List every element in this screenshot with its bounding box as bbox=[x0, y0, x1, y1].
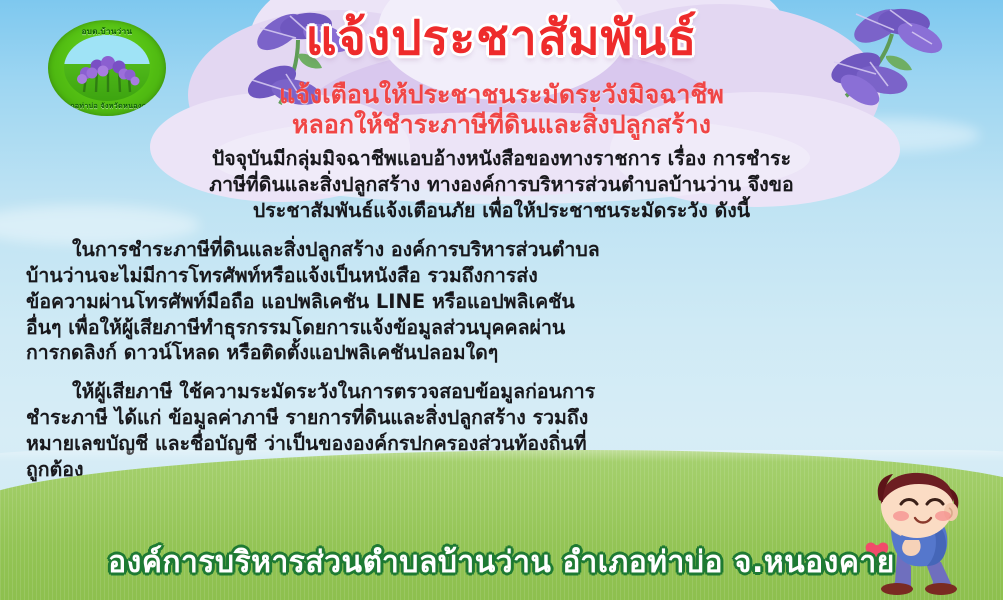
announcement-body: ปัจจุบันมีกลุ่มมิจฉาชีพแอบอ้างหนังสือของ… bbox=[26, 146, 977, 496]
paragraph-line: ภาษีที่ดินและสิ่งปลูกสร้าง ทางองค์การบริ… bbox=[26, 172, 977, 198]
paragraph-line: ประชาสัมพันธ์แจ้งเตือนภัย เพื่อให้ประชาช… bbox=[26, 198, 977, 224]
paragraph-no-contact: ในการชำระภาษีที่ดินและสิ่งปลูกสร้าง องค์… bbox=[26, 237, 977, 367]
paragraph-line: ในการชำระภาษีที่ดินและสิ่งปลูกสร้าง องค์… bbox=[26, 237, 977, 263]
paragraph-line: อื่นๆ เพื่อให้ผู้เสียภาษีทำธุรกรรมโดยการ… bbox=[26, 315, 977, 341]
subtitle-line-1: แจ้งเตือนให้ประชาชนระมัดระวังมิจฉาชีพ bbox=[0, 80, 1003, 110]
paragraph-line: บ้านว่านจะไม่มีการโทรศัพท์หรือแจ้งเป็นหน… bbox=[26, 263, 977, 289]
paragraph-line: ให้ผู้เสียภาษี ใช้ความระมัดระวังในการตรว… bbox=[26, 379, 977, 405]
page-subtitle: แจ้งเตือนให้ประชาชนระมัดระวังมิจฉาชีพ หล… bbox=[0, 80, 1003, 139]
paragraph-line: การกดลิงก์ ดาวน์โหลด หรือติดตั้งแอปพลิเค… bbox=[26, 340, 977, 366]
paragraph-line: ปัจจุบันมีกลุ่มมิจฉาชีพแอบอ้างหนังสือของ… bbox=[26, 146, 977, 172]
paragraph-intro: ปัจจุบันมีกลุ่มมิจฉาชีพแอบอ้างหนังสือของ… bbox=[26, 146, 977, 224]
subtitle-line-2: หลอกให้ชำระภาษีที่ดินและสิ่งปลูกสร้าง bbox=[0, 110, 1003, 140]
footer-organization-name: องค์การบริหารส่วนตำบลบ้านว่าน อำเภอท่าบ่… bbox=[0, 539, 1003, 586]
paragraph-line: ข้อความผ่านโทรศัพท์มือถือ แอปพลิเคชัน LI… bbox=[26, 289, 977, 315]
paragraph-line: ชำระภาษี ได้แก่ ข้อมูลค่าภาษี รายการที่ด… bbox=[26, 405, 977, 431]
page-title: แจ้งประชาสัมพันธ์ bbox=[0, 14, 1003, 62]
announcement-poster: อบต.บ้านว่าน อำเภอท่าบ่อ จังหวัดหนองคาย … bbox=[0, 0, 1003, 600]
